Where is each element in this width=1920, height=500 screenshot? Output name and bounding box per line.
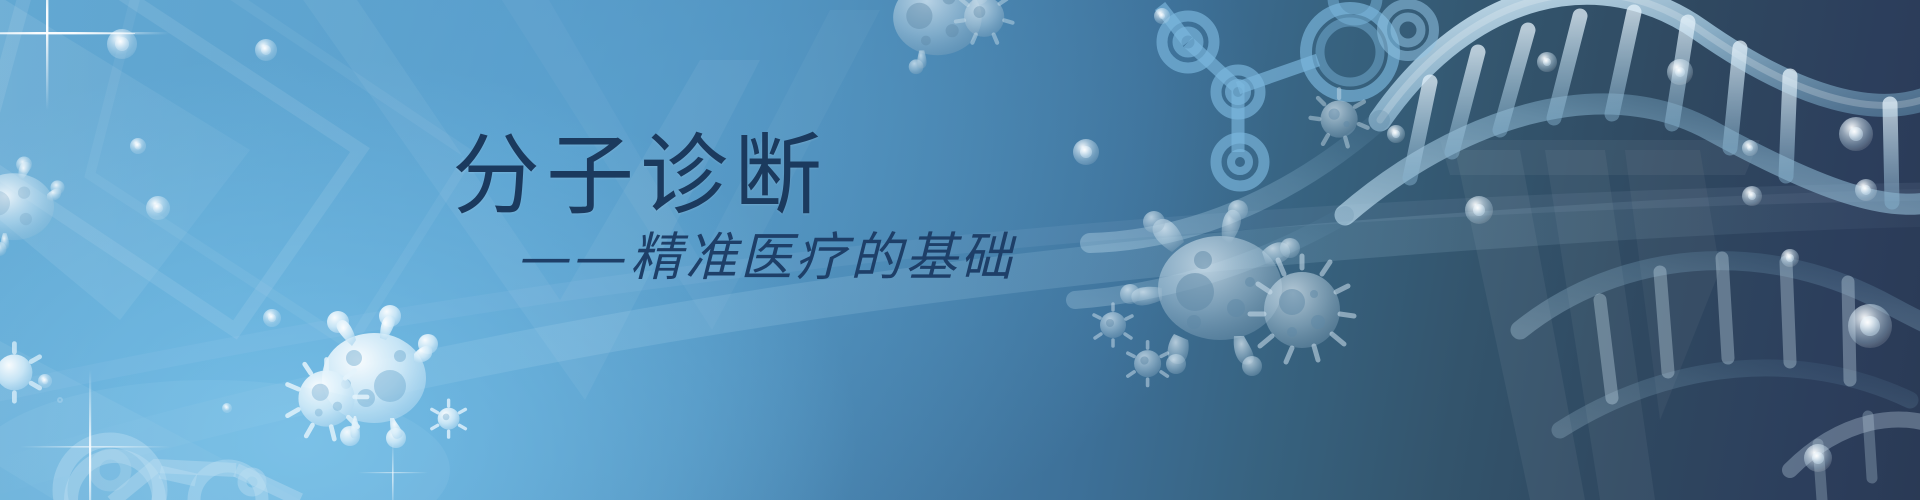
light-sparkle-group: [0, 0, 1920, 500]
molecular-diagnostics-banner: 分子诊断 ——精准医疗的基础: [0, 0, 1920, 500]
glow-bottom-left: [0, 380, 450, 500]
sparkle-top-left: [0, 0, 170, 110]
